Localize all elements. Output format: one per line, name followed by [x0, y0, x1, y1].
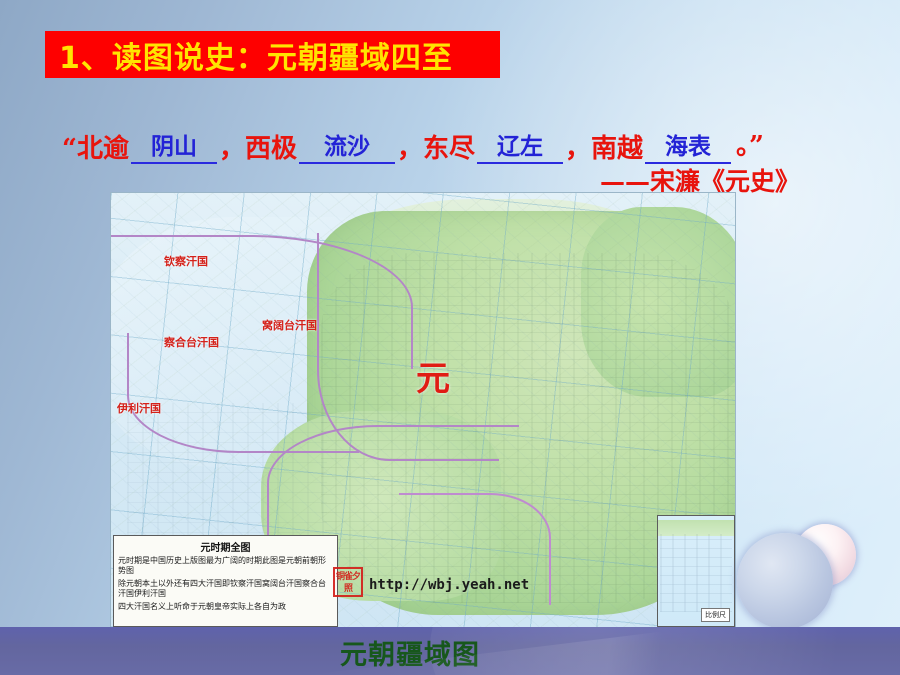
- map-inset-label: 比例尺: [701, 608, 730, 622]
- map-legend-line-2: 除元朝本土以外还有四大汗国即钦察汗国窝阔台汗国察合台汗国伊利汗国: [118, 579, 333, 599]
- quote-close: 。”: [733, 125, 764, 164]
- map-image: 钦察汗国 窝阔台汗国 察合台汗国 伊利汗国 元 元时期全图 元时期是中国历史上版…: [110, 192, 736, 628]
- page-title: 1、读图说史：元朝疆域四至: [59, 33, 453, 77]
- quote-connector-1: ，西极: [219, 136, 297, 164]
- decorative-sphere-large: [737, 533, 833, 629]
- slide-canvas: 1、读图说史：元朝疆域四至 “北逾 阴山 ，西极 流沙 ，东尽 辽左 ，南越 海…: [0, 0, 900, 675]
- answer-text-2: 流沙: [299, 135, 395, 158]
- answer-blank-4[interactable]: 海表: [645, 122, 731, 164]
- map-legend-title: 元时期全图: [118, 539, 333, 554]
- map-inset-panel: 比例尺: [657, 515, 735, 627]
- answer-text-3: 辽左: [477, 135, 563, 158]
- map-legend-line-1: 元时期是中国历史上版图最为广阔的时期此图是元朝前朝形势图: [118, 556, 333, 576]
- answer-blank-1[interactable]: 阴山: [131, 122, 217, 164]
- map-legend-box: 元时期全图 元时期是中国历史上版图最为广阔的时期此图是元朝前朝形势图 除元朝本土…: [113, 535, 338, 627]
- answer-blank-2[interactable]: 流沙: [299, 122, 395, 164]
- watermark-url: http://wbj.yeah.net: [369, 577, 529, 593]
- map-label-yili-khanate: 伊利汗国: [117, 400, 161, 416]
- map-label-qincha-khanate: 钦察汗国: [164, 253, 208, 269]
- title-banner: 1、读图说史：元朝疆域四至: [45, 31, 500, 78]
- quote-row: “北逾 阴山 ，西极 流沙 ，东尽 辽左 ，南越 海表 。”: [62, 118, 862, 164]
- answer-text-4: 海表: [645, 135, 731, 158]
- answer-blank-3[interactable]: 辽左: [477, 122, 563, 164]
- answer-text-1: 阴山: [131, 135, 217, 158]
- map-label-wokuotai-khanate: 窝阔台汗国: [262, 317, 317, 333]
- map-label-chahetai-khanate: 察合台汗国: [164, 334, 219, 350]
- quote-connector-2: ，东尽: [397, 136, 475, 164]
- map-inset-texture: [660, 534, 732, 612]
- map-legend-line-3: 四大汗国名义上听命于元朝皇帝实际上各自为政: [118, 602, 333, 612]
- seal-stamp-icon: 铜雀夕照: [333, 567, 363, 597]
- quote-connector-3: ，南越: [565, 136, 643, 164]
- quote-open: “北逾: [62, 136, 129, 164]
- map-caption: 元朝疆域图: [340, 633, 480, 672]
- map-label-yuan: 元: [416, 351, 450, 400]
- footer-band: 元朝疆域图: [0, 627, 900, 675]
